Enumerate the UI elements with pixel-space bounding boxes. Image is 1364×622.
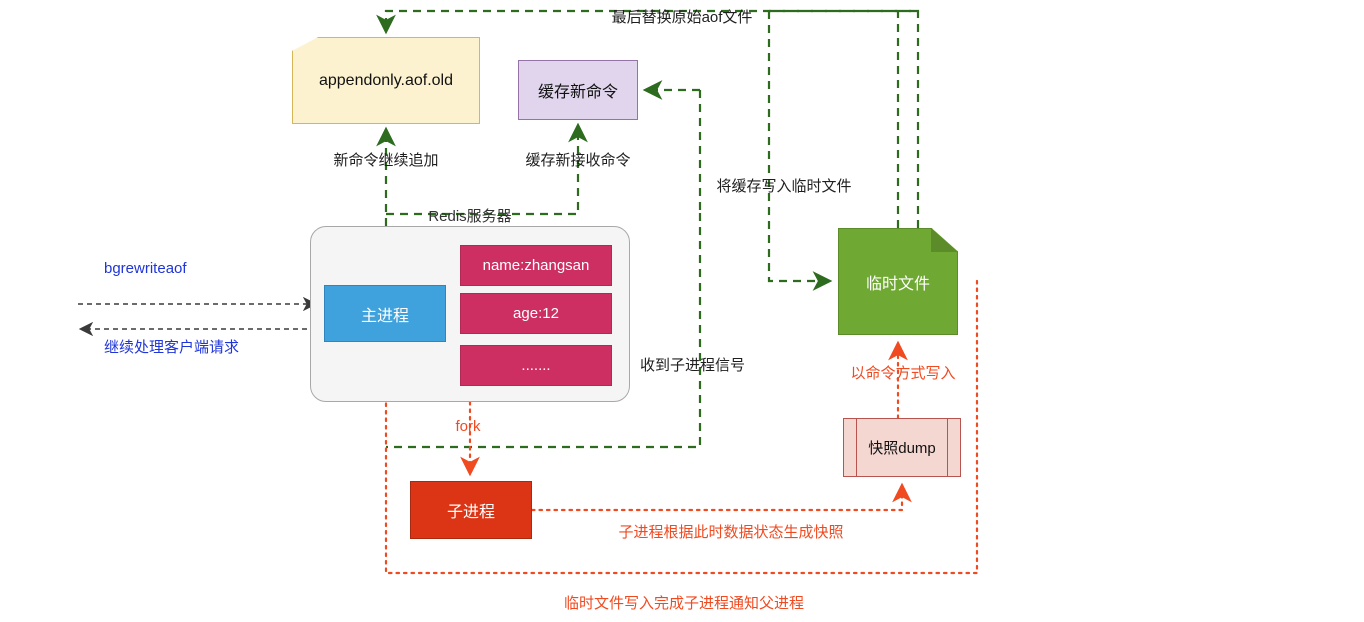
node-label-temp-file: 临时文件 (866, 270, 930, 294)
label-receive-child-signal: 收到子进程信号 (640, 354, 745, 375)
data-row-label: name:zhangsan (483, 257, 590, 274)
wire-child-snapshot (532, 487, 902, 510)
label-temp-done-notify-parent: 临时文件写入完成子进程通知父进程 (564, 592, 804, 613)
label-append-new-command: 新命令继续追加 (333, 149, 438, 170)
label-redis-server: Redis服务器 (310, 205, 630, 226)
process-bar-right-icon (947, 419, 948, 476)
node-snapshot-dump[interactable]: 快照dump (843, 418, 961, 477)
data-row-label: ....... (521, 357, 550, 374)
node-cache-new-command[interactable]: 缓存新命令 (518, 60, 638, 120)
label-cache-received-command: 缓存新接收命令 (525, 149, 630, 170)
node-child-process[interactable]: 子进程 (410, 481, 532, 539)
process-bar-left-icon (856, 419, 857, 476)
node-label-aof-old: appendonly.aof.old (319, 72, 453, 90)
wire-cache-new-cmd (386, 127, 578, 214)
data-row: name:zhangsan (460, 245, 612, 286)
node-main-process[interactable]: 主进程 (324, 285, 446, 342)
label-continue-client-requests: 继续处理客户端请求 (104, 336, 239, 357)
label-replace-original-aof: 最后替换原始aof文件 (612, 6, 753, 27)
node-label-cache-new-command: 缓存新命令 (538, 78, 618, 102)
diagram-canvas: appendonly.aof.old 缓存新命令 Redis服务器 主进程 na… (0, 0, 1364, 622)
data-row: age:12 (460, 293, 612, 334)
node-label-child-process: 子进程 (447, 498, 495, 522)
wire-write-cache-temp (769, 11, 828, 281)
node-label-snapshot-dump: 快照dump (868, 437, 936, 458)
label-fork: fork (455, 418, 480, 435)
label-write-as-command: 以命令方式写入 (850, 362, 955, 383)
data-row: ....... (460, 345, 612, 386)
node-appendonly-aof-old[interactable]: appendonly.aof.old (292, 37, 480, 124)
label-bgrewriteaof: bgrewriteaof (104, 260, 187, 277)
label-child-snapshot: 子进程根据此时数据状态生成快照 (618, 521, 843, 542)
label-write-cache-to-temp: 将缓存写入临时文件 (716, 175, 851, 196)
data-row-label: age:12 (513, 305, 559, 322)
node-label-main-process: 主进程 (361, 302, 409, 326)
